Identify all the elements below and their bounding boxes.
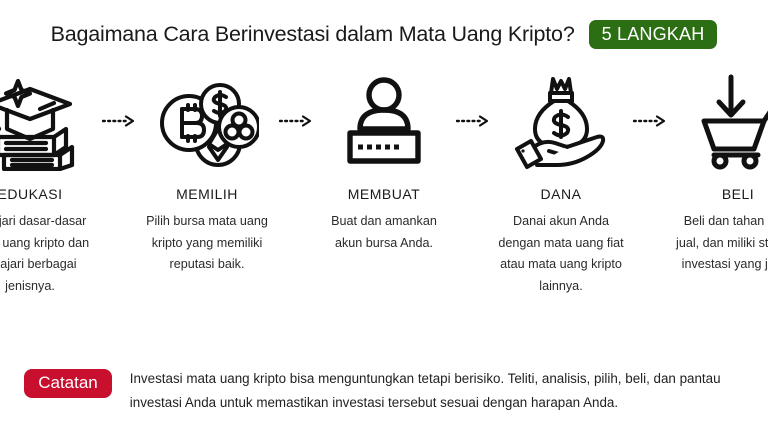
graduation-cap-books-icon [0, 68, 82, 174]
steps-row: EDUKASI Pelajari dasar-dasar mata uang k… [0, 68, 768, 298]
crypto-coins-icon [155, 68, 259, 174]
step-beli: BELI Beli dan tahan atau jual, dan milik… [668, 68, 768, 276]
note-badge: Catatan [24, 369, 112, 398]
hand-money-bag-icon [509, 68, 613, 174]
step-description: Buat dan amankan akun bursa Anda. [314, 211, 455, 254]
steps-count-badge: 5 LANGKAH [589, 20, 718, 49]
dotted-arrow-right-icon [632, 68, 668, 174]
step-label: DANA [541, 186, 582, 202]
user-password-icon [332, 68, 436, 174]
dotted-arrow-right-icon [455, 68, 491, 174]
dotted-arrow-right-icon [278, 68, 314, 174]
step-label: MEMILIH [176, 186, 238, 202]
step-edukasi: EDUKASI Pelajari dasar-dasar mata uang k… [0, 68, 101, 298]
dotted-arrow-right-icon [101, 68, 137, 174]
step-description: Danai akun Anda dengan mata uang fiat at… [491, 211, 632, 298]
step-description: Beli dan tahan atau jual, dan miliki str… [668, 211, 768, 276]
step-label: EDUKASI [0, 186, 62, 202]
step-description: Pilih bursa mata uang kripto yang memili… [137, 211, 278, 276]
step-memilih: MEMILIH Pilih bursa mata uang kripto yan… [137, 68, 278, 276]
page-title: Bagaimana Cara Berinvestasi dalam Mata U… [51, 22, 575, 47]
shopping-cart-download-icon [686, 68, 768, 174]
step-label: BELI [722, 186, 754, 202]
note-text: Investasi mata uang kripto bisa menguntu… [130, 367, 744, 414]
step-description: Pelajari dasar-dasar mata uang kripto da… [0, 211, 101, 298]
step-label: MEMBUAT [348, 186, 420, 202]
note-section: Catatan Investasi mata uang kripto bisa … [0, 367, 768, 414]
step-dana: DANA Danai akun Anda dengan mata uang fi… [491, 68, 632, 298]
step-membuat: MEMBUAT Buat dan amankan akun bursa Anda… [314, 68, 455, 254]
header: Bagaimana Cara Berinvestasi dalam Mata U… [0, 0, 768, 68]
